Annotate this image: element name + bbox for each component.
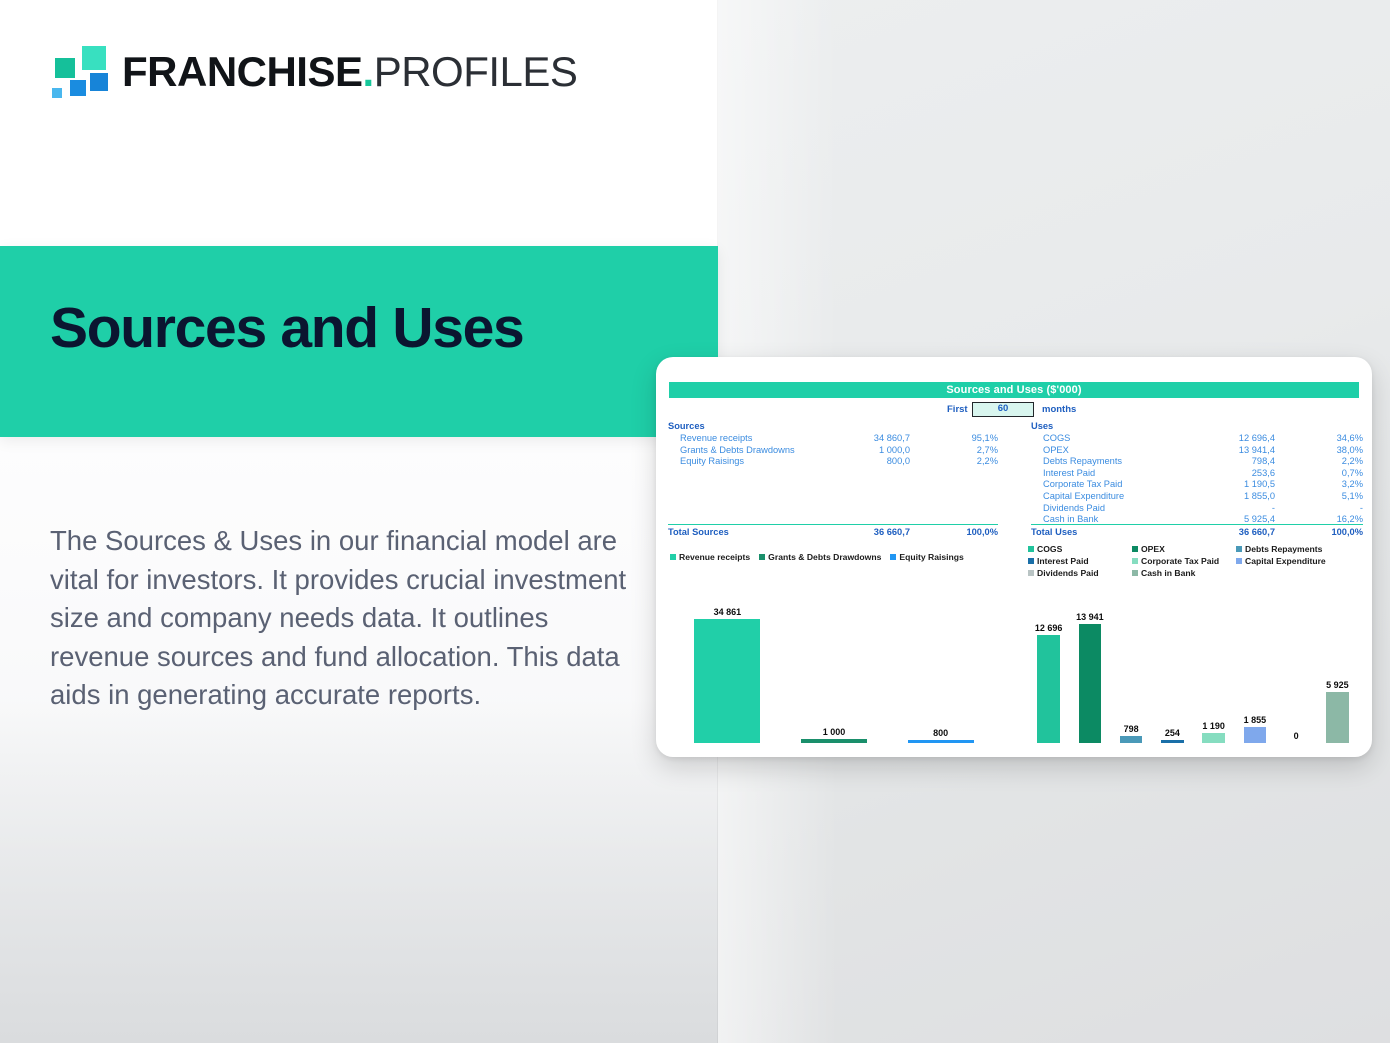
row-value: 798,4 [1252,456,1275,468]
uses-bars: 12 69613 9417982541 1901 85505 925 [1028,583,1358,743]
spreadsheet-content: Sources and Uses ($'000) First 60 months… [656,357,1372,757]
legend-item: Interest Paid [1028,555,1132,567]
sources-bars: 34 8611 000800 [674,583,994,743]
legend-swatch-icon [759,554,765,560]
legend-item: Grants & Debts Drawdowns [759,551,881,563]
brand-logo: FRANCHISE.PROFILES [48,40,548,104]
bar-value-label: 5 925 [1326,680,1349,690]
logo-square-1 [80,44,108,72]
sources-bar-chart: 34 8611 000800 [674,583,994,743]
period-prefix-label: First [947,404,968,415]
row-value: 1 190,5 [1244,479,1275,491]
legend-label: Revenue receipts [679,552,750,562]
bar-group: 13 941 [1069,583,1110,743]
period-selector-row: First 60 months [656,404,1372,418]
row-label: Corporate Tax Paid [1043,479,1122,491]
table-row: Dividends Paid - - [1031,503,1363,515]
legend-item: Revenue receipts [670,551,750,563]
row-percent: 3,2% [1342,479,1363,491]
legend-item: Dividends Paid [1028,567,1132,579]
row-percent: 2,2% [1342,456,1363,468]
bar-value-label: 0 [1294,731,1299,741]
row-label: Interest Paid [1043,468,1095,480]
bar-group: 1 000 [781,583,888,743]
bar [694,619,760,743]
hero-band: Sources and Uses [0,246,718,437]
legend-item: Cash in Bank [1132,567,1236,579]
table-row: Debts Repayments 798,4 2,2% [1031,456,1363,468]
total-label: Total Sources [668,526,729,539]
logo-word-secondary: PROFILES [374,48,578,95]
row-value: - [1272,503,1275,515]
bar-value-label: 13 941 [1076,612,1104,622]
legend-label: Corporate Tax Paid [1141,556,1219,566]
row-percent: 34,6% [1337,433,1363,445]
bar [1326,692,1349,743]
total-percent: 100,0% [966,526,998,539]
legend-item: COGS [1028,543,1132,555]
uses-chart-legend: COGSOPEXDebts RepaymentsInterest PaidCor… [1028,543,1364,579]
legend-label: Debts Repayments [1245,544,1322,554]
legend-label: Cash in Bank [1141,568,1195,578]
table-row: Revenue receipts 34 860,7 95,1% [668,433,998,445]
legend-swatch-icon [1132,546,1138,552]
row-label: Grants & Debts Drawdowns [680,445,795,457]
row-percent: - [1360,503,1363,515]
bar-value-label: 254 [1165,728,1180,738]
spreadsheet-title: Sources and Uses ($'000) [669,382,1359,398]
legend-label: COGS [1037,544,1062,554]
bar-group: 12 696 [1028,583,1069,743]
bar-group: 254 [1152,583,1193,743]
legend-item: Debts Repayments [1236,543,1340,555]
uses-total-row: Total Uses 36 660,7 100,0% [1031,524,1363,539]
bar [908,740,974,743]
sources-heading: Sources [668,421,998,431]
bar [1202,733,1225,743]
legend-item: Equity Raisings [890,551,963,563]
legend-swatch-icon [890,554,896,560]
bar-value-label: 12 696 [1035,623,1063,633]
logo-wordmark: FRANCHISE.PROFILES [122,40,577,104]
row-percent: 2,2% [977,456,998,468]
bar-group: 800 [887,583,994,743]
row-label: OPEX [1043,445,1069,457]
logo-square-2 [53,56,77,80]
bar [1037,635,1060,743]
row-percent: 38,0% [1337,445,1363,457]
bar-value-label: 34 861 [714,607,742,617]
row-value: 34 860,7 [874,433,910,445]
row-value: 800,0 [887,456,910,468]
bar-group: 5 925 [1317,583,1358,743]
uses-table: Uses COGS 12 696,4 34,6% OPEX 13 941,4 3… [1031,421,1363,526]
legend-label: Interest Paid [1037,556,1089,566]
spreadsheet-card: Sources and Uses ($'000) First 60 months… [656,357,1372,757]
row-value: 253,6 [1252,468,1275,480]
table-row: Corporate Tax Paid 1 190,5 3,2% [1031,479,1363,491]
row-percent: 5,1% [1342,491,1363,503]
table-row: OPEX 13 941,4 38,0% [1031,445,1363,457]
row-label: Capital Expenditure [1043,491,1124,503]
table-row: Equity Raisings 800,0 2,2% [668,456,998,468]
total-percent: 100,0% [1331,526,1363,539]
row-label: Debts Repayments [1043,456,1122,468]
bar-group: 0 [1276,583,1317,743]
row-value: 1 855,0 [1244,491,1275,503]
background-bottom-shade [0,700,718,1043]
row-label: COGS [1043,433,1070,445]
uses-bar-chart: 12 69613 9417982541 1901 85505 925 [1028,583,1358,743]
row-percent: 95,1% [972,433,998,445]
legend-label: Grants & Debts Drawdowns [768,552,881,562]
page-title: Sources and Uses [50,300,523,357]
legend-swatch-icon [1028,546,1034,552]
bar-value-label: 798 [1124,724,1139,734]
row-label: Equity Raisings [680,456,744,468]
legend-swatch-icon [1236,558,1242,564]
table-row: COGS 12 696,4 34,6% [1031,433,1363,445]
bar-group: 1 855 [1234,583,1275,743]
sources-table: Sources Revenue receipts 34 860,7 95,1% … [668,421,998,468]
row-label: Revenue receipts [680,433,752,445]
total-value: 36 660,7 [874,526,910,539]
bar-value-label: 1 855 [1244,715,1267,725]
row-label: Dividends Paid [1043,503,1105,515]
hero-description: The Sources & Uses in our financial mode… [50,522,630,715]
period-suffix-label: months [1042,404,1076,415]
row-value: 13 941,4 [1239,445,1275,457]
legend-item: Corporate Tax Paid [1132,555,1236,567]
legend-label: OPEX [1141,544,1165,554]
row-value: 12 696,4 [1239,433,1275,445]
legend-swatch-icon [1132,570,1138,576]
table-row: Grants & Debts Drawdowns 1 000,0 2,7% [668,445,998,457]
total-value: 36 660,7 [1239,526,1275,539]
bar [1161,740,1184,743]
bar-group: 34 861 [674,583,781,743]
legend-swatch-icon [1132,558,1138,564]
logo-square-4 [68,78,88,98]
bar-value-label: 1 190 [1202,721,1225,731]
legend-swatch-icon [1236,546,1242,552]
logo-square-5 [50,86,64,100]
logo-square-3 [88,71,110,93]
bar [801,739,867,743]
table-row: Interest Paid 253,6 0,7% [1031,468,1363,480]
legend-swatch-icon [1028,570,1034,576]
period-months-input[interactable]: 60 [972,402,1034,417]
bar-group: 798 [1111,583,1152,743]
bar [1244,727,1267,743]
bar [1120,736,1143,743]
legend-swatch-icon [670,554,676,560]
legend-label: Equity Raisings [899,552,963,562]
logo-word-primary: FRANCHISE [122,48,363,95]
total-label: Total Uses [1031,526,1077,539]
bar [1079,624,1102,743]
legend-item: Capital Expenditure [1236,555,1340,567]
bar-value-label: 1 000 [823,727,846,737]
logo-word-dot: . [363,48,374,95]
row-percent: 0,7% [1342,468,1363,480]
row-value: 1 000,0 [879,445,910,457]
row-percent: 2,7% [977,445,998,457]
sources-chart-legend: Revenue receiptsGrants & Debts Drawdowns… [670,551,1000,563]
sources-total-row: Total Sources 36 660,7 100,0% [668,524,998,539]
bar-group: 1 190 [1193,583,1234,743]
uses-heading: Uses [1031,421,1363,431]
logo-mark-icon [48,44,112,100]
table-row: Capital Expenditure 1 855,0 5,1% [1031,491,1363,503]
bar-value-label: 800 [933,728,948,738]
legend-swatch-icon [1028,558,1034,564]
legend-label: Capital Expenditure [1245,556,1326,566]
legend-label: Dividends Paid [1037,568,1099,578]
legend-item: OPEX [1132,543,1236,555]
